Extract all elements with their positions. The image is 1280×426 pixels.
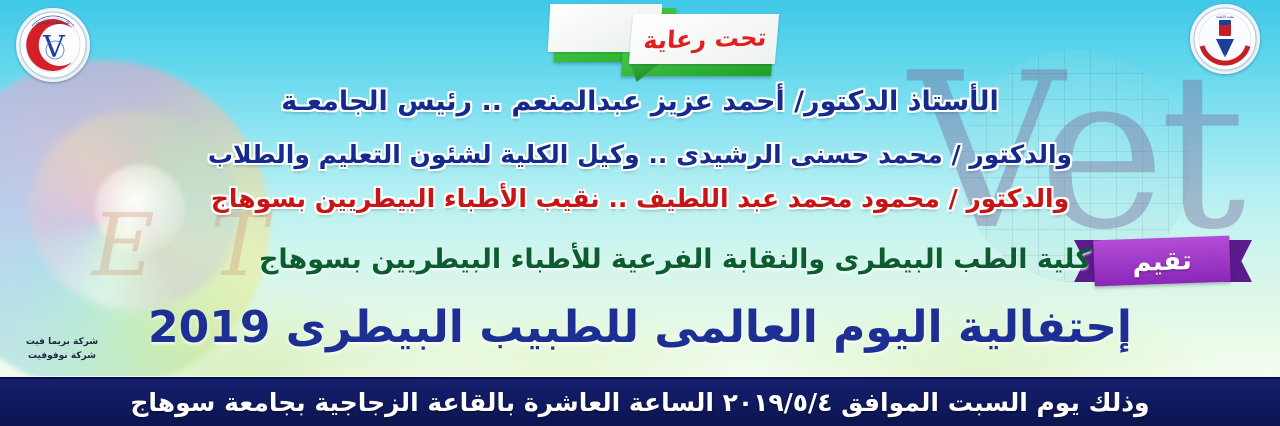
faculty-of-veterinary-medicine-logo: V كلية الطب البيطري [16,8,90,82]
svg-text:نقابة الأطباء: نقابة الأطباء [1216,14,1234,19]
event-title: إحتفالية اليوم العالمى للطبيب البيطرى 20… [0,302,1280,353]
svg-text:كلية الطب البيطري: كلية الطب البيطري [36,20,70,25]
official-line-2: والدكتور / محمد حسنى الرشيدى .. وكيل الك… [0,140,1280,169]
event-details-text: وذلك يوم السبت الموافق ٢٠١٩/٥/٤ الساعة ا… [130,388,1149,417]
svg-text:V: V [42,30,66,65]
sponsors-block: شركة بريما فيت شركة نوفوفيت [16,336,108,363]
organizer-text: كلية الطب البيطرى والنقابة الفرعية للأطب… [0,244,1280,275]
sponsor-line-2: شركة نوفوفيت [16,350,108,364]
svg-text:VETERINARY: VETERINARY [1214,55,1236,59]
official-line-1: الأستاذ الدكتور/ أحمد عزيز عبدالمنعم .. … [0,86,1280,117]
event-details-bar: وذلك يوم السبت الموافق ٢٠١٩/٥/٤ الساعة ا… [0,377,1280,426]
sponsor-line-1: شركة بريما فيت [16,336,108,350]
official-line-3: والدكتور / محمود محمد عبد اللطيف .. نقيب… [0,184,1280,213]
patronage-ribbon: تحت رعاية [527,2,787,84]
veterinary-syndicate-logo: VETERINARY نقابة الأطباء [1190,4,1260,74]
patronage-label: تحت رعاية [633,14,776,64]
event-banner: E T Vet V كلية الطب البيطري VETERINARY ن… [0,0,1280,426]
